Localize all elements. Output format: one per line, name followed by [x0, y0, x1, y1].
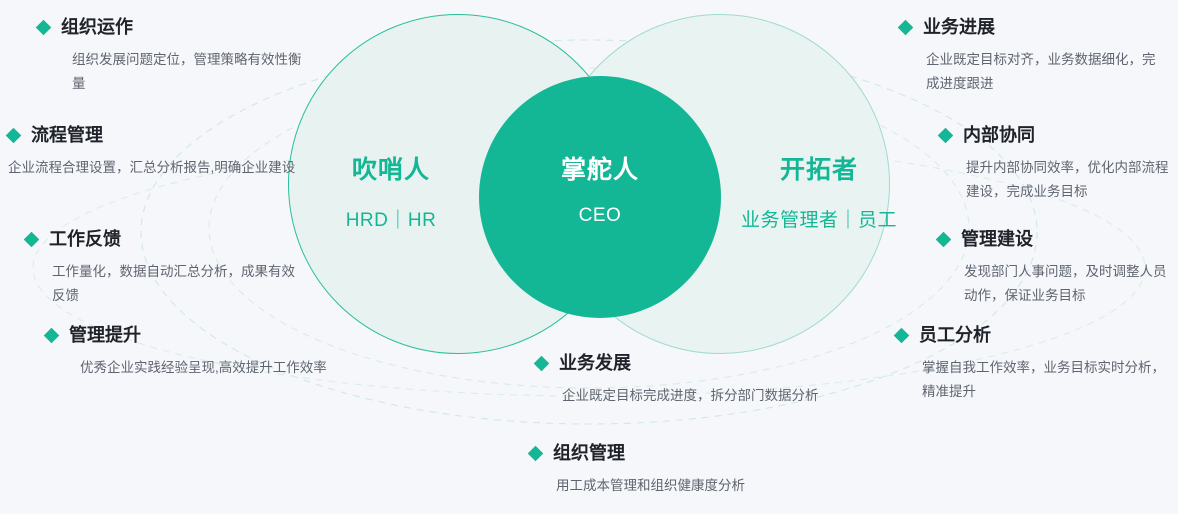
feature-item-business-progress: 业务进展 企业既定目标对齐，业务数据细化，完成进度跟进 — [900, 16, 1168, 96]
feature-description: 企业流程合理设置，汇总分析报告,明确企业建设 — [8, 156, 296, 180]
feature-description: 企业既定目标对齐，业务数据细化，完成进度跟进 — [900, 48, 1168, 95]
diamond-bullet-icon — [24, 232, 40, 248]
feature-title-text: 流程管理 — [31, 124, 103, 147]
feature-description: 优秀企业实践经验呈现,高效提升工作效率 — [46, 356, 366, 380]
feature-item-work-feedback: 工作反馈 工作量化，数据自动汇总分析，成果有效反馈 — [26, 228, 298, 308]
feature-item-process-management: 流程管理 企业流程合理设置，汇总分析报告,明确企业建设 — [8, 124, 296, 180]
venn-left-title: 吹哨人 — [296, 155, 486, 185]
feature-description: 工作量化，数据自动汇总分析，成果有效反馈 — [26, 260, 298, 307]
feature-title-text: 工作反馈 — [49, 228, 121, 251]
feature-title-text: 管理提升 — [69, 324, 141, 347]
feature-title: 员工分析 — [896, 324, 1178, 347]
feature-title: 流程管理 — [8, 124, 296, 147]
feature-item-internal-collaboration: 内部协同 提升内部协同效率，优化内部流程建设，完成业务目标 — [940, 124, 1178, 204]
feature-title-text: 组织管理 — [553, 442, 625, 465]
diamond-bullet-icon — [6, 128, 22, 144]
diamond-bullet-icon — [936, 232, 952, 248]
diamond-bullet-icon — [898, 20, 914, 36]
feature-item-management-improvement: 管理提升 优秀企业实践经验呈现,高效提升工作效率 — [46, 324, 366, 380]
feature-title-text: 管理建设 — [961, 228, 1033, 251]
feature-item-organization-management: 组织管理 用工成本管理和组织健康度分析 — [530, 442, 830, 498]
diagram-canvas: 吹哨人 HRD｜HR 掌舵人 CEO 开拓者 业务管理者｜员工 组织运作 组织发… — [0, 0, 1178, 514]
venn-left-subtitle: HRD｜HR — [296, 205, 486, 232]
feature-title-text: 组织运作 — [61, 16, 133, 39]
venn-label-center: 掌舵人 CEO — [479, 155, 721, 227]
diamond-bullet-icon — [534, 356, 550, 372]
feature-description: 掌握自我工作效率，业务目标实时分析，精准提升 — [896, 356, 1178, 403]
feature-item-business-development: 业务发展 企业既定目标完成进度，拆分部门数据分析 — [536, 352, 826, 408]
feature-item-management-construction: 管理建设 发现部门人事问题，及时调整人员动作，保证业务目标 — [938, 228, 1178, 308]
feature-description: 提升内部协同效率，优化内部流程建设，完成业务目标 — [940, 156, 1178, 203]
feature-title: 工作反馈 — [26, 228, 298, 251]
feature-description: 发现部门人事问题，及时调整人员动作，保证业务目标 — [938, 260, 1178, 307]
feature-title: 管理提升 — [46, 324, 366, 347]
feature-title: 业务发展 — [536, 352, 826, 375]
feature-title-text: 内部协同 — [963, 124, 1035, 147]
feature-item-organization-operation: 组织运作 组织发展问题定位，管理策略有效性衡量 — [38, 16, 308, 96]
diamond-bullet-icon — [894, 328, 910, 344]
feature-title: 管理建设 — [938, 228, 1178, 251]
venn-center-subtitle: CEO — [479, 205, 721, 227]
feature-title: 内部协同 — [940, 124, 1178, 147]
diamond-bullet-icon — [938, 128, 954, 144]
venn-right-subtitle: 业务管理者｜员工 — [714, 205, 924, 232]
venn-right-title: 开拓者 — [714, 155, 924, 185]
feature-description: 组织发展问题定位，管理策略有效性衡量 — [38, 48, 308, 95]
feature-title-text: 员工分析 — [919, 324, 991, 347]
venn-label-right: 开拓者 业务管理者｜员工 — [714, 155, 924, 232]
feature-title-text: 业务发展 — [559, 352, 631, 375]
feature-description: 企业既定目标完成进度，拆分部门数据分析 — [536, 384, 826, 408]
venn-center-title: 掌舵人 — [479, 155, 721, 185]
feature-title-text: 业务进展 — [923, 16, 995, 39]
feature-title: 组织管理 — [530, 442, 830, 465]
diamond-bullet-icon — [36, 20, 52, 36]
feature-item-employee-analysis: 员工分析 掌握自我工作效率，业务目标实时分析，精准提升 — [896, 324, 1178, 404]
feature-title: 业务进展 — [900, 16, 1168, 39]
diamond-bullet-icon — [44, 328, 60, 344]
diamond-bullet-icon — [528, 446, 544, 462]
feature-description: 用工成本管理和组织健康度分析 — [530, 474, 830, 498]
venn-label-left: 吹哨人 HRD｜HR — [296, 155, 486, 232]
feature-title: 组织运作 — [38, 16, 308, 39]
